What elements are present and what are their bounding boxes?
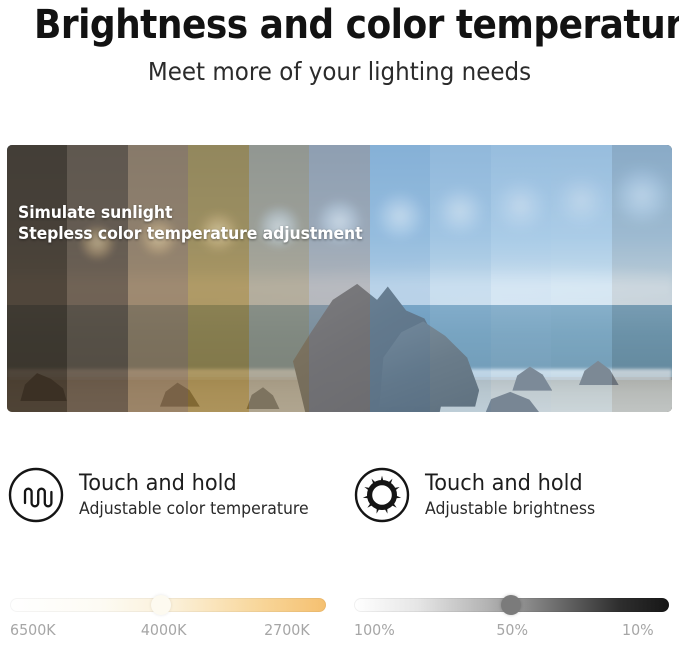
color-temperature-band bbox=[370, 145, 430, 412]
color-temperature-slider-labels: 6500K 4000K 2700K bbox=[10, 621, 310, 639]
brightness-slider-labels: 100% 50% 10% bbox=[354, 621, 654, 639]
slider-label-min: 6500K bbox=[10, 621, 56, 639]
feature-row: Touch and hold Adjustable color temperat… bbox=[0, 466, 679, 524]
color-temperature-bands bbox=[7, 145, 672, 412]
hero-banner: Simulate sunlight Stepless color tempera… bbox=[7, 145, 672, 412]
header: Brightness and color temperature Meet mo… bbox=[0, 0, 679, 87]
light-glow-spot bbox=[553, 172, 610, 229]
slider-row: 6500K 4000K 2700K 100% 50% 10% bbox=[0, 598, 679, 639]
color-temperature-band bbox=[309, 145, 369, 412]
light-glow-spot bbox=[493, 178, 548, 233]
light-glow-spot bbox=[375, 191, 425, 241]
feature-brightness: Touch and hold Adjustable brightness bbox=[340, 466, 679, 524]
feature-subtitle: Adjustable color temperature bbox=[79, 498, 309, 520]
color-temperature-slider-knob[interactable] bbox=[151, 595, 171, 615]
feature-text: Touch and hold Adjustable color temperat… bbox=[79, 471, 321, 520]
sun-brightness-icon bbox=[353, 466, 411, 524]
page-subtitle: Meet more of your lighting needs bbox=[27, 48, 652, 87]
feature-color-temperature: Touch and hold Adjustable color temperat… bbox=[0, 466, 340, 524]
color-temperature-band bbox=[491, 145, 551, 412]
slider-label-max: 2700K bbox=[264, 621, 310, 639]
slider-label-max: 10% bbox=[622, 621, 654, 639]
hero-caption-line1: Simulate sunlight bbox=[18, 202, 362, 223]
brightness-slider-group: 100% 50% 10% bbox=[340, 598, 679, 639]
page-title: Brightness and color temperature bbox=[34, 0, 645, 48]
feature-title: Touch and hold bbox=[79, 471, 309, 497]
color-temperature-band bbox=[430, 145, 490, 412]
color-temperature-band bbox=[612, 145, 672, 412]
color-temperature-band bbox=[551, 145, 611, 412]
color-temperature-band bbox=[67, 145, 127, 412]
hero-caption-line2: Stepless color temperature adjustment bbox=[18, 223, 362, 244]
brightness-slider[interactable] bbox=[354, 598, 670, 612]
slider-label-mid: 50% bbox=[496, 621, 528, 639]
feature-subtitle: Adjustable brightness bbox=[425, 498, 595, 520]
color-temperature-band bbox=[249, 145, 309, 412]
color-temperature-band bbox=[188, 145, 248, 412]
color-temperature-band bbox=[7, 145, 67, 412]
color-temperature-band bbox=[128, 145, 188, 412]
light-glow-spot bbox=[434, 185, 486, 237]
hero-caption: Simulate sunlight Stepless color tempera… bbox=[18, 202, 362, 244]
feature-text: Touch and hold Adjustable brightness bbox=[425, 471, 604, 520]
feature-title: Touch and hold bbox=[425, 471, 595, 497]
slider-label-mid: 4000K bbox=[141, 621, 187, 639]
light-glow-spot bbox=[612, 165, 672, 225]
slider-label-min: 100% bbox=[354, 621, 395, 639]
brightness-slider-knob[interactable] bbox=[501, 595, 521, 615]
filament-icon bbox=[7, 466, 65, 524]
color-temperature-slider[interactable] bbox=[10, 598, 326, 612]
color-temperature-slider-group: 6500K 4000K 2700K bbox=[0, 598, 340, 639]
